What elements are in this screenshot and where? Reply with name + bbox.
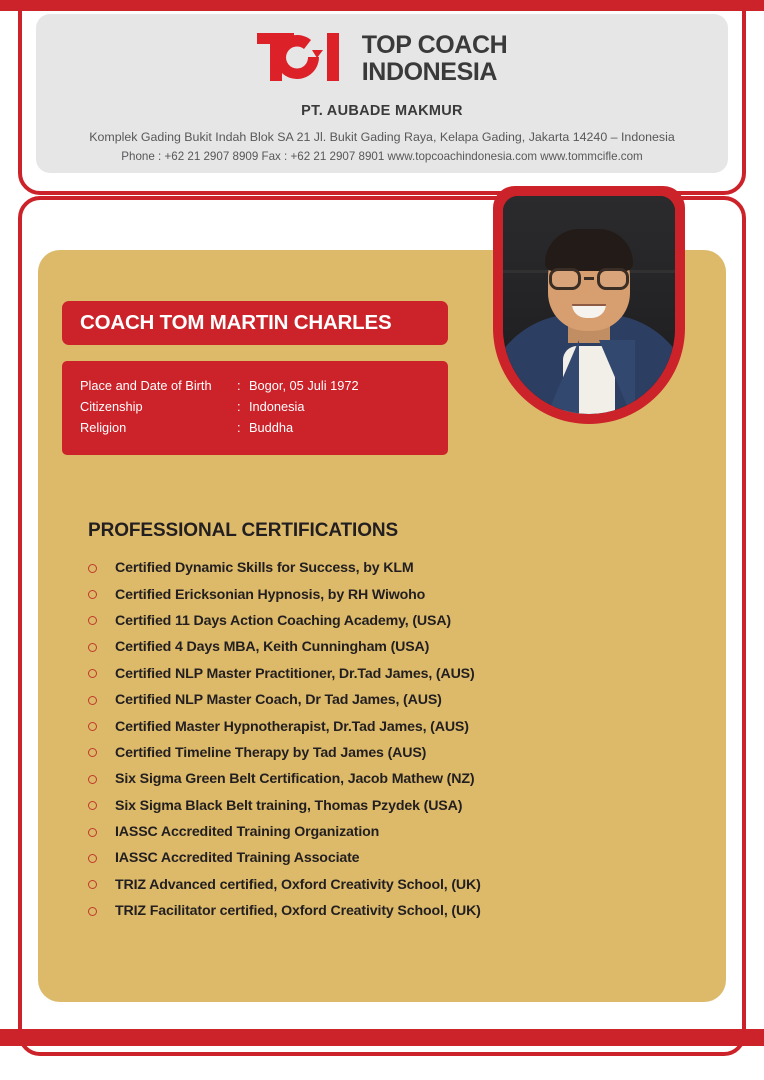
circle-bullet-icon	[88, 801, 97, 810]
list-item: TRIZ Facilitator certified, Oxford Creat…	[88, 898, 648, 924]
list-item: TRIZ Advanced certified, Oxford Creativi…	[88, 872, 648, 898]
coach-name-banner: COACH TOM MARTIN CHARLES	[62, 301, 448, 345]
circle-bullet-icon	[88, 828, 97, 837]
address-line: Komplek Gading Bukit Indah Blok SA 21 Jl…	[36, 128, 728, 147]
circle-bullet-icon	[88, 616, 97, 625]
coach-name: COACH TOM MARTIN CHARLES	[80, 311, 391, 335]
certification-label: IASSC Accredited Training Organization	[115, 824, 379, 840]
list-item: Certified NLP Master Coach, Dr Tad James…	[88, 687, 648, 713]
circle-bullet-icon	[88, 669, 97, 678]
coach-photo-frame	[493, 186, 685, 424]
circle-bullet-icon	[88, 696, 97, 705]
brand-lockup: TOP COACH INDONESIA	[36, 28, 728, 90]
list-item: Certified 4 Days MBA, Keith Cunningham (…	[88, 634, 648, 660]
coach-portrait	[503, 196, 675, 414]
company-address-block: Komplek Gading Bukit Indah Blok SA 21 Jl…	[36, 128, 728, 166]
certification-label: Certified NLP Master Practitioner, Dr.Ta…	[115, 666, 475, 682]
list-item: Certified Master Hypnotherapist, Dr.Tad …	[88, 713, 648, 739]
list-item: Certified Timeline Therapy by Tad James …	[88, 740, 648, 766]
list-item: Certified Dynamic Skills for Success, by…	[88, 555, 648, 581]
list-item: Certified NLP Master Practitioner, Dr.Ta…	[88, 661, 648, 687]
certification-label: Certified Dynamic Skills for Success, by…	[115, 560, 414, 576]
detail-label: Citizenship	[80, 396, 237, 417]
certification-label: Certified Ericksonian Hypnosis, by RH Wi…	[115, 587, 425, 603]
brand-line-2: INDONESIA	[362, 59, 508, 86]
bottom-red-bar	[0, 1029, 764, 1046]
circle-bullet-icon	[88, 775, 97, 784]
circle-bullet-icon	[88, 880, 97, 889]
certifications-heading: PROFESSIONAL CERTIFICATIONS	[88, 520, 398, 542]
detail-value: Bogor, 05 Juli 1972	[249, 375, 359, 396]
certification-label: Certified 11 Days Action Coaching Academ…	[115, 613, 451, 629]
certification-label: TRIZ Facilitator certified, Oxford Creat…	[115, 903, 481, 919]
detail-row: Citizenship : Indonesia	[80, 396, 448, 417]
list-item: Certified 11 Days Action Coaching Academ…	[88, 608, 648, 634]
certification-label: Certified 4 Days MBA, Keith Cunningham (…	[115, 639, 429, 655]
certification-label: Certified Master Hypnotherapist, Dr.Tad …	[115, 719, 469, 735]
tci-logo-icon	[257, 31, 353, 88]
circle-bullet-icon	[88, 907, 97, 916]
eyeglasses-icon	[546, 268, 632, 290]
certification-label: Six Sigma Green Belt Certification, Jaco…	[115, 771, 474, 787]
brand-line-1: TOP COACH	[362, 32, 508, 59]
circle-bullet-icon	[88, 590, 97, 599]
circle-bullet-icon	[88, 643, 97, 652]
circle-bullet-icon	[88, 564, 97, 573]
certification-label: TRIZ Advanced certified, Oxford Creativi…	[115, 877, 481, 893]
document-page: TOP COACH INDONESIA PT. AUBADE MAKMUR Ko…	[0, 0, 764, 1080]
detail-colon: :	[237, 396, 249, 417]
contact-line: Phone : +62 21 2907 8909 Fax : +62 21 29…	[36, 147, 728, 166]
detail-colon: :	[237, 417, 249, 438]
certification-label: Six Sigma Black Belt training, Thomas Pz…	[115, 798, 462, 814]
list-item: IASSC Accredited Training Organization	[88, 819, 648, 845]
list-item: IASSC Accredited Training Associate	[88, 845, 648, 871]
certification-label: Certified Timeline Therapy by Tad James …	[115, 745, 426, 761]
list-item: Certified Ericksonian Hypnosis, by RH Wi…	[88, 581, 648, 607]
brand-wordmark: TOP COACH INDONESIA	[362, 32, 508, 86]
personal-details-block: Place and Date of Birth : Bogor, 05 Juli…	[62, 361, 448, 455]
detail-label: Place and Date of Birth	[80, 375, 237, 396]
certification-label: IASSC Accredited Training Associate	[115, 850, 359, 866]
circle-bullet-icon	[88, 722, 97, 731]
detail-row: Place and Date of Birth : Bogor, 05 Juli…	[80, 375, 448, 396]
circle-bullet-icon	[88, 854, 97, 863]
list-item: Six Sigma Black Belt training, Thomas Pz…	[88, 793, 648, 819]
detail-label: Religion	[80, 417, 237, 438]
detail-value: Buddha	[249, 417, 293, 438]
certifications-list: Certified Dynamic Skills for Success, by…	[88, 555, 648, 924]
certification-label: Certified NLP Master Coach, Dr Tad James…	[115, 692, 442, 708]
detail-value: Indonesia	[249, 396, 305, 417]
company-name: PT. AUBADE MAKMUR	[36, 103, 728, 119]
detail-row: Religion : Buddha	[80, 417, 448, 438]
list-item: Six Sigma Green Belt Certification, Jaco…	[88, 766, 648, 792]
circle-bullet-icon	[88, 748, 97, 757]
detail-colon: :	[237, 375, 249, 396]
letterhead-panel: TOP COACH INDONESIA PT. AUBADE MAKMUR Ko…	[36, 14, 728, 173]
